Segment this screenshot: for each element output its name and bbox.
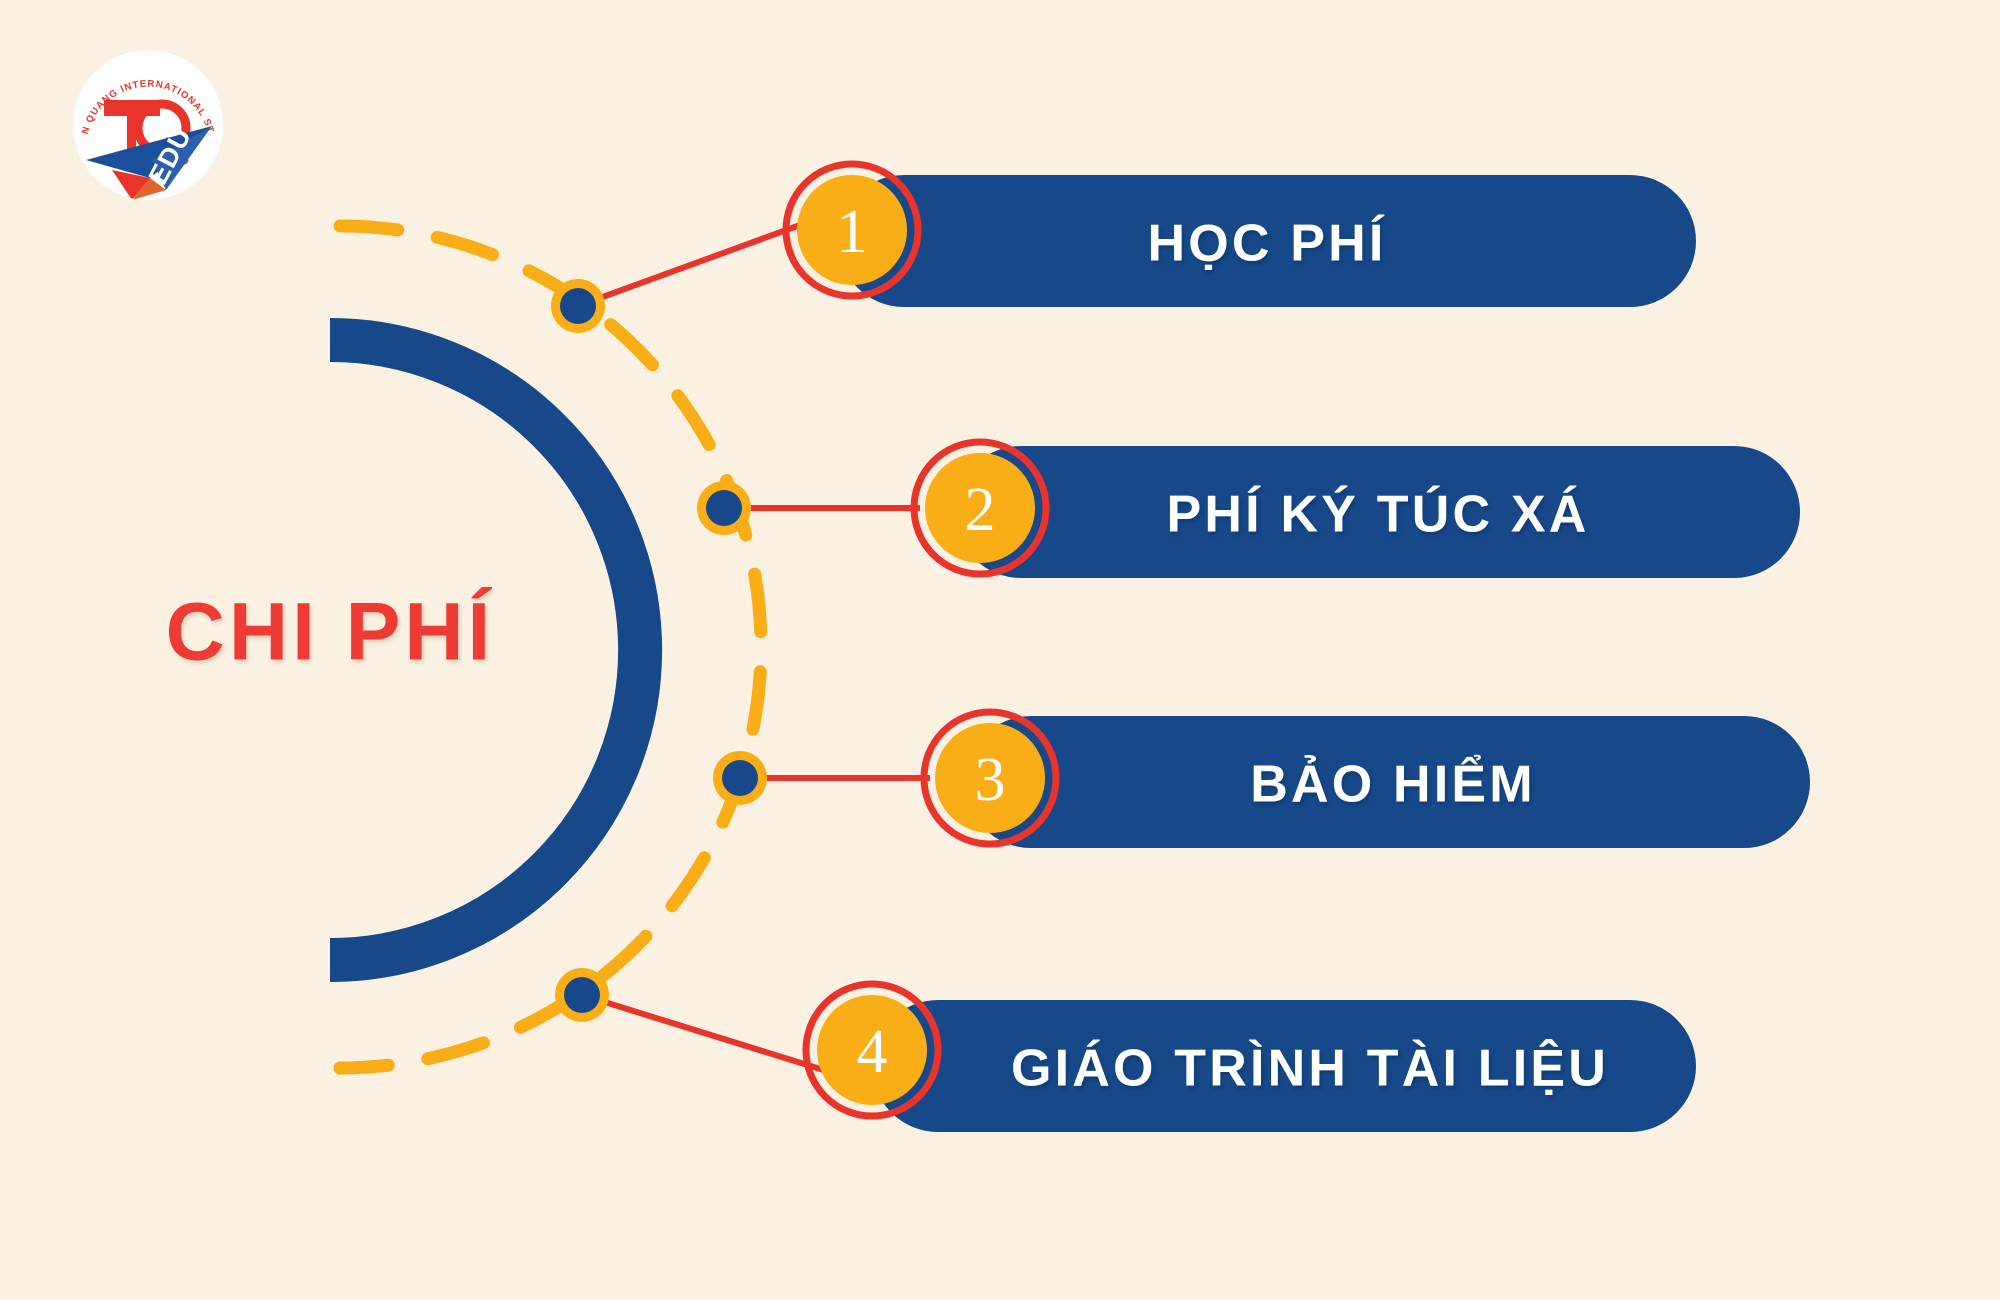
connector-node-3[interactable] [713,751,767,805]
item-number-2: 2 [965,476,996,544]
infographic-artboard: HỌC PHÍ 1 PHÍ KÝ TÚC XÁ 2 BẢO HIỂM 3 GIÁ… [0,0,2000,1300]
infographic-canvas: HỌC PHÍ 1 PHÍ KÝ TÚC XÁ 2 BẢO HIỂM 3 GIÁ… [0,0,2000,1300]
item-row-4[interactable]: GIÁO TRÌNH TÀI LIỆU 4 [806,984,1696,1132]
item-number-1: 1 [837,198,868,266]
item-row-1[interactable]: HỌC PHÍ 1 [786,164,1696,307]
connector-node-2[interactable] [697,481,751,535]
page-title: CHI PHÍ [166,587,495,678]
item-label-1: HỌC PHÍ [1147,215,1386,273]
item-number-4: 4 [857,1018,888,1086]
item-row-2[interactable]: PHÍ KÝ TÚC XÁ 2 [914,442,1800,578]
item-label-3: BẢO HIỂM [1250,755,1536,814]
item-label-4: GIÁO TRÌNH TÀI LIỆU [1011,1039,1609,1098]
connector-node-1[interactable] [551,279,605,333]
item-row-3[interactable]: BẢO HIỂM 3 [924,712,1810,848]
connector-node-4[interactable] [555,968,609,1022]
item-label-2: PHÍ KÝ TÚC XÁ [1167,485,1590,544]
item-number-3: 3 [975,746,1006,814]
